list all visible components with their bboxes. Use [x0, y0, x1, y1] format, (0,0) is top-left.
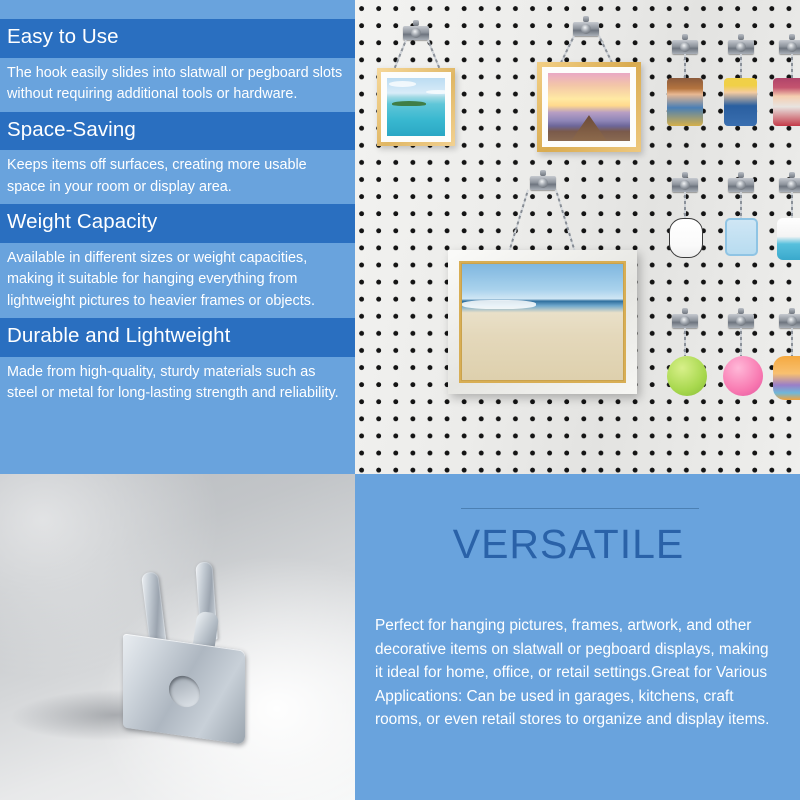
- hook-boss: [538, 178, 548, 188]
- hook-boss: [787, 180, 797, 190]
- framed-picture-tropical-island: [377, 68, 455, 146]
- hook-boss: [411, 28, 421, 38]
- hook-chain: [684, 328, 686, 356]
- feature-title: Space-Saving: [0, 112, 355, 151]
- hook-chain: [560, 36, 575, 64]
- feature-body: Keeps items off surfaces, creating more …: [0, 150, 355, 204]
- features-column: Easy to Use The hook easily slides into …: [0, 0, 355, 474]
- hook-boss: [736, 316, 746, 326]
- tropical-island-artwork: [387, 78, 445, 136]
- framed-picture-sunset-mountain: [537, 62, 641, 152]
- slatwall-hook-product: [110, 554, 250, 749]
- feature-body: The hook easily slides into slatwall or …: [0, 58, 355, 112]
- white-cat-charm: [669, 218, 703, 258]
- hook-chain: [555, 190, 576, 254]
- hook-chain: [598, 36, 613, 64]
- hook-chain: [740, 328, 742, 356]
- pegboard-hook: [672, 38, 698, 55]
- picture-mat: [381, 72, 451, 142]
- hook-chain: [791, 54, 793, 78]
- hook-chain: [791, 328, 793, 356]
- hook-boss: [787, 316, 797, 326]
- pegboard-hook: [672, 176, 698, 193]
- bear-plush-charm: [773, 356, 800, 400]
- versatile-body: Perfect for hanging pictures, frames, ar…: [373, 614, 782, 732]
- hook-boss: [581, 24, 591, 34]
- pegboard-hook: [672, 312, 698, 329]
- hook-boss: [736, 180, 746, 190]
- pegboard-hook: [573, 20, 599, 37]
- dog-tag-charm: [725, 218, 758, 256]
- versatile-divider: [461, 508, 699, 509]
- pegboard-hook: [530, 174, 556, 191]
- pegboard-hook: [779, 312, 800, 329]
- feature-card-space-saving: Space-Saving Keeps items off surfaces, c…: [0, 112, 355, 205]
- hook-boss: [736, 42, 746, 52]
- top-accent-strip: [0, 0, 355, 19]
- pegboard-photo: [355, 0, 800, 474]
- strawberry-pompom-charm: [667, 356, 707, 396]
- pirate-figure-charm: [667, 78, 703, 126]
- hook-chain: [684, 192, 686, 218]
- feature-body: Available in different sizes or weight c…: [0, 243, 355, 319]
- hook-chain: [791, 192, 793, 218]
- hook-chain: [740, 192, 742, 218]
- framed-picture-beach: [448, 250, 637, 394]
- feature-title: Easy to Use: [0, 19, 355, 58]
- hook-boss: [787, 42, 797, 52]
- hook-chain: [427, 40, 440, 69]
- hook-boss: [680, 316, 690, 326]
- sunset-mountain-artwork: [548, 73, 630, 141]
- pegboard-hook: [728, 38, 754, 55]
- feature-body: Made from high-quality, sturdy materials…: [0, 357, 355, 411]
- feature-card-weight-capacity: Weight Capacity Available in different s…: [0, 204, 355, 318]
- hook-chain: [684, 54, 686, 78]
- hook-chain: [740, 54, 742, 78]
- feature-title: Weight Capacity: [0, 204, 355, 243]
- hook-boss: [680, 42, 690, 52]
- product-photo: [0, 474, 355, 800]
- feature-card-durable-and-lightweight: Durable and Lightweight Made from high-q…: [0, 318, 355, 411]
- hook-chain: [508, 190, 529, 254]
- versatile-title: VERSATILE: [373, 521, 782, 568]
- blue-figure-charm: [777, 218, 800, 260]
- straw-hat-boy-charm: [724, 78, 757, 126]
- versatile-panel: VERSATILE Perfect for hanging pictures, …: [355, 474, 800, 800]
- pegboard-hook: [403, 24, 429, 41]
- pegboard-hook: [779, 176, 800, 193]
- beach-artwork: [462, 264, 623, 380]
- red-hair-girl-charm: [773, 78, 800, 126]
- hook-boss: [680, 180, 690, 190]
- pegboard-hook: [728, 312, 754, 329]
- hook-chain: [394, 40, 407, 69]
- picture-inner-bevel: [459, 261, 626, 383]
- pink-pompom-charm: [723, 356, 763, 396]
- pegboard-hook: [728, 176, 754, 193]
- feature-title: Durable and Lightweight: [0, 318, 355, 357]
- feature-card-easy-to-use: Easy to Use The hook easily slides into …: [0, 19, 355, 112]
- picture-mat: [542, 67, 636, 147]
- pegboard-hook: [779, 38, 800, 55]
